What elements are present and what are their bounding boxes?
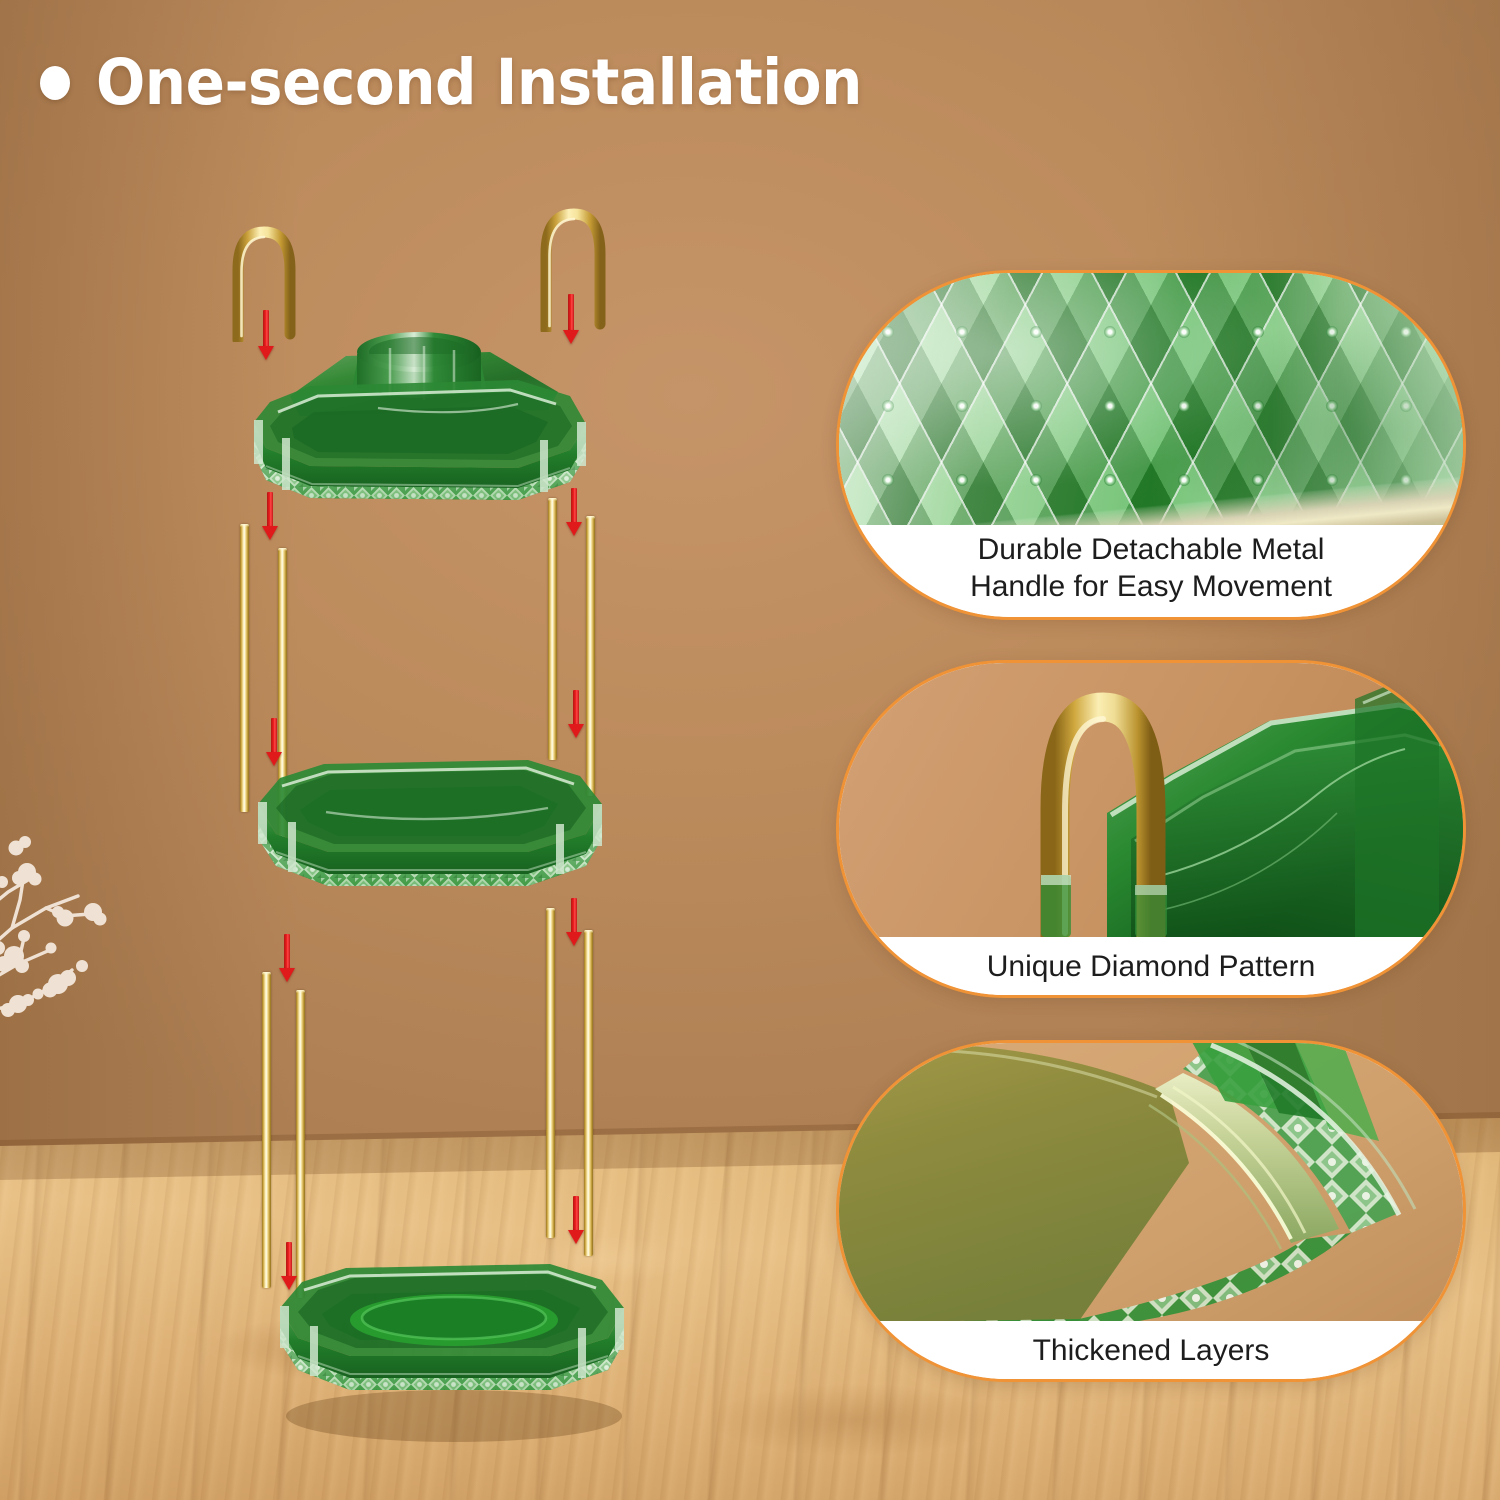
callout-caption: Thickened Layers xyxy=(839,1321,1463,1382)
callout-caption: Unique Diamond Pattern xyxy=(839,937,1463,998)
connecting-rod xyxy=(584,930,593,1256)
caption-line: Durable Detachable Metal xyxy=(978,532,1325,569)
assembly-arrow xyxy=(568,690,584,738)
top-tier xyxy=(218,300,618,510)
callout-handle[interactable]: Durable Detachable Metal Handle for Easy… xyxy=(836,270,1466,620)
assembly-arrow xyxy=(279,934,295,982)
callout-layers[interactable]: Thickened Layers xyxy=(836,1040,1466,1382)
assembly-arrow xyxy=(566,488,582,536)
bottom-tier xyxy=(258,1240,648,1440)
caption-line: Handle for Easy Movement xyxy=(970,569,1332,606)
thickened-layer-detail-icon xyxy=(839,1043,1463,1321)
assembly-arrow xyxy=(568,1196,584,1244)
assembly-arrow xyxy=(566,898,582,946)
callout-caption: Durable Detachable Metal Handle for Easy… xyxy=(839,525,1463,617)
assembly-arrow xyxy=(262,492,278,540)
page-title-text: One-second Installation xyxy=(96,46,862,119)
feature-callouts: Durable Detachable Metal Handle for Easy… xyxy=(830,0,1500,1500)
exploded-product-diagram xyxy=(0,0,760,1500)
connecting-rod xyxy=(548,498,557,760)
gold-handle-detail-icon xyxy=(839,663,1463,937)
bullet-dot-icon xyxy=(40,66,70,100)
connecting-rod xyxy=(546,908,555,1238)
page-title: One-second Installation xyxy=(40,46,928,119)
caption-line: Thickened Layers xyxy=(1033,1333,1270,1370)
caption-line: Unique Diamond Pattern xyxy=(987,949,1316,986)
diamond-pattern-macro-icon xyxy=(839,273,1463,525)
middle-tier xyxy=(236,742,626,922)
callout-diamond[interactable]: Unique Diamond Pattern xyxy=(836,660,1466,998)
